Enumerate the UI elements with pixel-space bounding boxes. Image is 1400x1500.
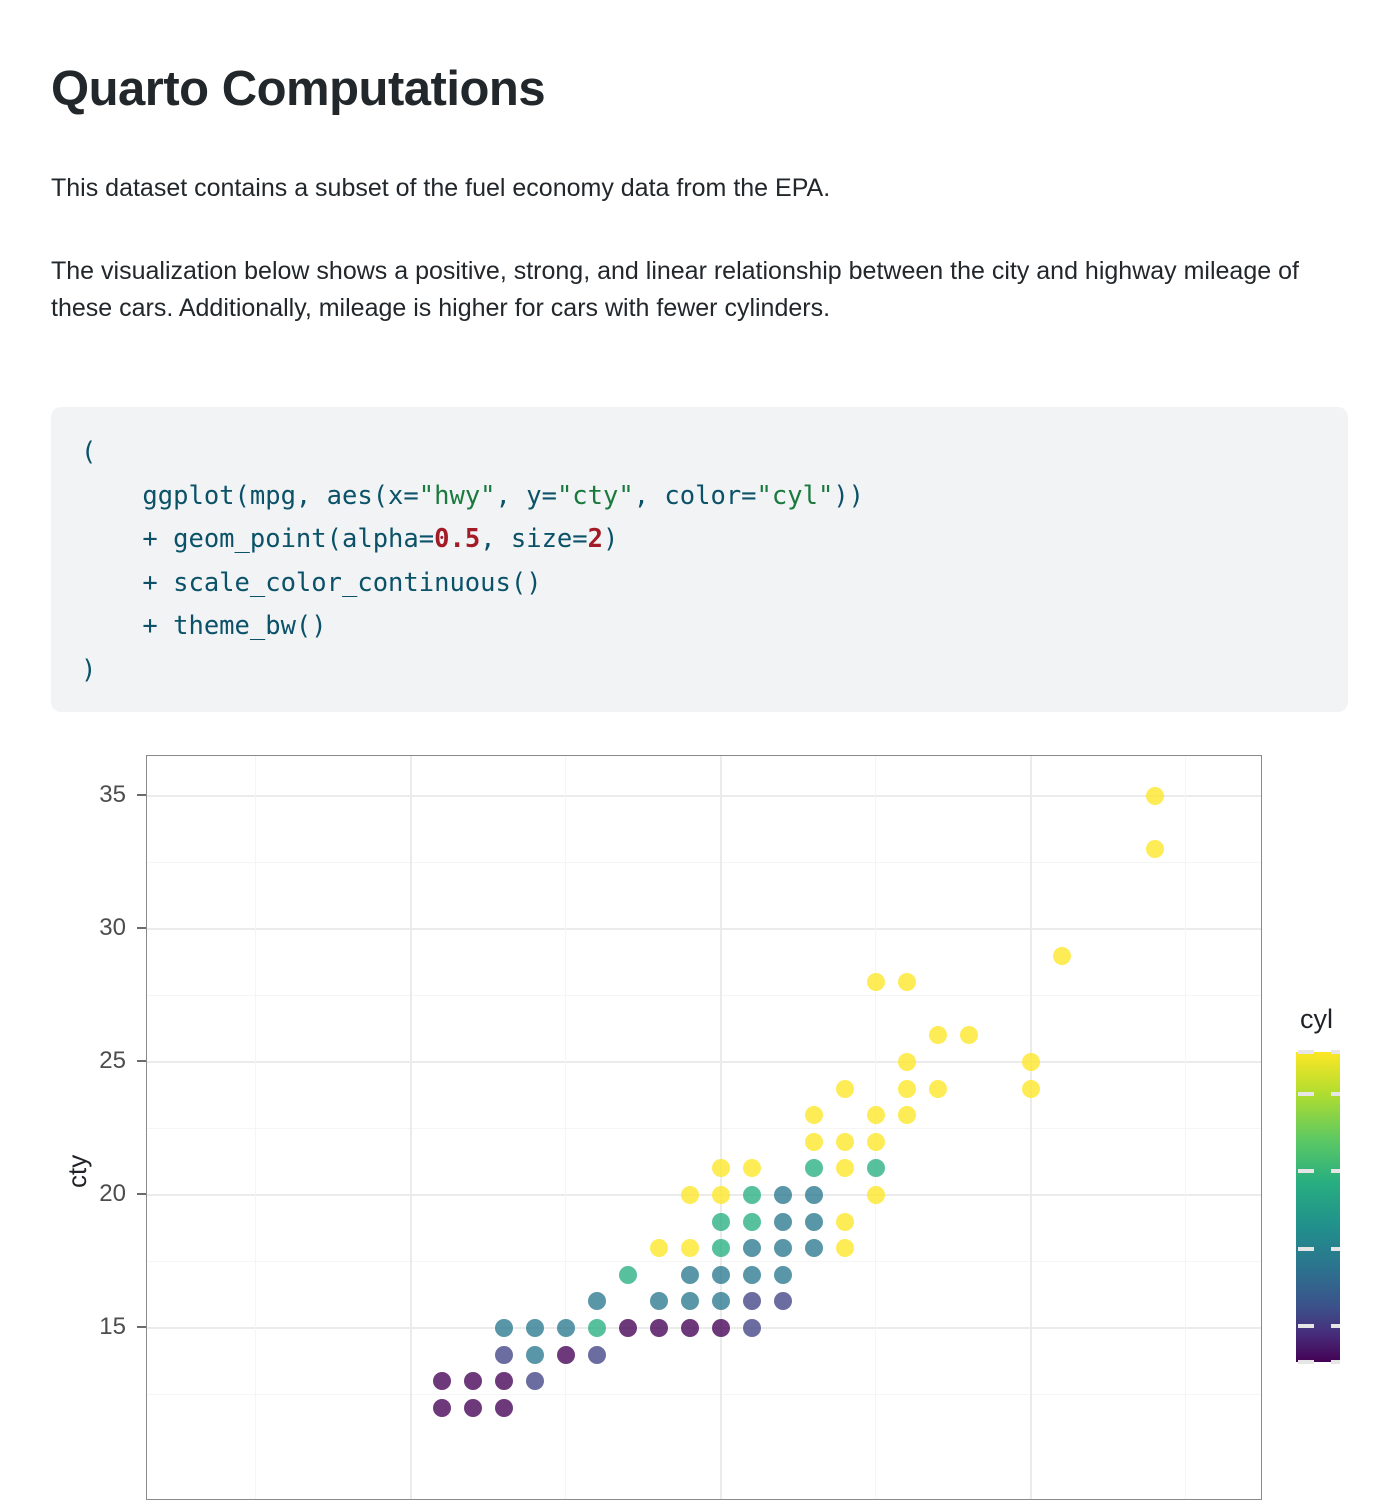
scatter-point [743,1266,761,1284]
scatter-point [805,1106,823,1124]
scatter-point [867,1106,885,1124]
scatter-point [495,1346,513,1364]
scatter-point [557,1346,575,1364]
scatter-point [867,1159,885,1177]
legend-tick-mark [1331,1050,1340,1054]
color-legend: cyl [1294,730,1400,1500]
y-axis-label: cty [62,1155,93,1188]
legend-tick-mark [1298,1360,1314,1364]
scatter-point [495,1372,513,1390]
scatter-point [743,1213,761,1231]
gridline-major-horizontal [147,1061,1261,1063]
scatter-plot-figure: 1520253035 cty cyl [0,730,1400,1500]
scatter-point [1146,787,1164,805]
y-axis-ticks: 1520253035 [0,730,126,1500]
legend-tick-mark [1298,1050,1314,1054]
scatter-point [929,1026,947,1044]
scatter-point [588,1292,606,1310]
description-paragraph: The visualization below shows a positive… [51,253,1346,327]
gridline-minor-horizontal [147,995,1261,996]
scatter-point [464,1372,482,1390]
scatter-point [650,1319,668,1337]
legend-tick-mark [1331,1247,1340,1251]
scatter-point [526,1372,544,1390]
scatter-point [712,1266,730,1284]
scatter-point [681,1239,699,1257]
scatter-point [433,1372,451,1390]
y-tick-label: 20 [99,1180,126,1208]
scatter-point [681,1292,699,1310]
scatter-point [619,1319,637,1337]
legend-colorbar [1296,1052,1340,1362]
gridline-major-vertical [720,756,722,1499]
scatter-point [774,1292,792,1310]
gridline-major-vertical [1030,756,1032,1499]
scatter-point [681,1266,699,1284]
legend-title: cyl [1300,1004,1333,1035]
scatter-point [898,1053,916,1071]
scatter-point [805,1213,823,1231]
scatter-point [712,1159,730,1177]
scatter-point [774,1266,792,1284]
scatter-point [867,1133,885,1151]
scatter-point [433,1399,451,1417]
y-tick-mark [137,1193,146,1195]
y-tick-label: 35 [99,781,126,809]
scatter-point [898,1080,916,1098]
gridline-minor-vertical [1185,756,1186,1499]
scatter-point [1053,947,1071,965]
gridline-major-horizontal [147,795,1261,797]
y-tick-mark [137,1060,146,1062]
scatter-point [836,1159,854,1177]
scatter-point [774,1213,792,1231]
legend-tick-mark [1331,1169,1340,1173]
gridline-major-horizontal [147,1327,1261,1329]
y-tick-label: 30 [99,914,126,942]
scatter-point [805,1239,823,1257]
scatter-point [712,1186,730,1204]
scatter-point [836,1133,854,1151]
scatter-point [743,1319,761,1337]
scatter-point [712,1239,730,1257]
y-tick-mark [137,794,146,796]
plot-panel [146,755,1262,1500]
gridline-minor-horizontal [147,1128,1261,1129]
page-title: Quarto Computations [51,63,545,117]
scatter-point [1022,1053,1040,1071]
intro-paragraph: This dataset contains a subset of the fu… [51,170,1346,207]
scatter-point [619,1266,637,1284]
scatter-point [681,1319,699,1337]
legend-tick-mark [1298,1169,1314,1173]
scatter-point [836,1239,854,1257]
scatter-point [898,1106,916,1124]
y-tick-label: 25 [99,1047,126,1075]
scatter-point [681,1186,699,1204]
scatter-point [495,1399,513,1417]
scatter-point [650,1292,668,1310]
gridline-major-horizontal [147,1194,1261,1196]
y-tick-mark [137,1326,146,1328]
legend-tick-mark [1298,1324,1314,1328]
scatter-point [867,973,885,991]
scatter-point [1022,1080,1040,1098]
scatter-point [898,973,916,991]
scatter-point [588,1319,606,1337]
scatter-point [743,1239,761,1257]
scatter-point [712,1292,730,1310]
legend-tick-mark [1331,1092,1340,1096]
legend-tick-mark [1331,1324,1340,1328]
legend-tick-mark [1298,1247,1314,1251]
scatter-point [836,1213,854,1231]
scatter-point [743,1159,761,1177]
gridline-minor-horizontal [147,862,1261,863]
scatter-point [526,1346,544,1364]
legend-tick-mark [1331,1360,1340,1364]
scatter-point [805,1159,823,1177]
scatter-point [495,1319,513,1337]
legend-tick-mark [1298,1092,1314,1096]
scatter-point [929,1080,947,1098]
gridline-major-vertical [410,756,412,1499]
scatter-point [557,1319,575,1337]
gridline-minor-vertical [255,756,256,1499]
scatter-point [774,1239,792,1257]
scatter-point [805,1186,823,1204]
scatter-point [464,1399,482,1417]
scatter-point [1146,840,1164,858]
scatter-point [743,1186,761,1204]
scatter-point [712,1213,730,1231]
scatter-point [650,1239,668,1257]
code-content: ( ggplot(mpg, aes(x="hwy", y="cty", colo… [81,431,1318,692]
gridline-minor-horizontal [147,1261,1261,1262]
code-block: ( ggplot(mpg, aes(x="hwy", y="cty", colo… [51,407,1348,712]
gridline-minor-vertical [565,756,566,1499]
scatter-point [588,1346,606,1364]
scatter-point [526,1319,544,1337]
y-tick-label: 15 [99,1313,126,1341]
gridline-minor-horizontal [147,1394,1261,1395]
y-tick-mark [137,927,146,929]
scatter-point [743,1292,761,1310]
gridline-minor-vertical [875,756,876,1499]
scatter-point [805,1133,823,1151]
scatter-point [712,1319,730,1337]
gridline-major-horizontal [147,928,1261,930]
scatter-point [867,1186,885,1204]
scatter-point [960,1026,978,1044]
scatter-point [774,1186,792,1204]
scatter-point [836,1080,854,1098]
page-root: Quarto Computations This dataset contain… [0,0,1400,1500]
